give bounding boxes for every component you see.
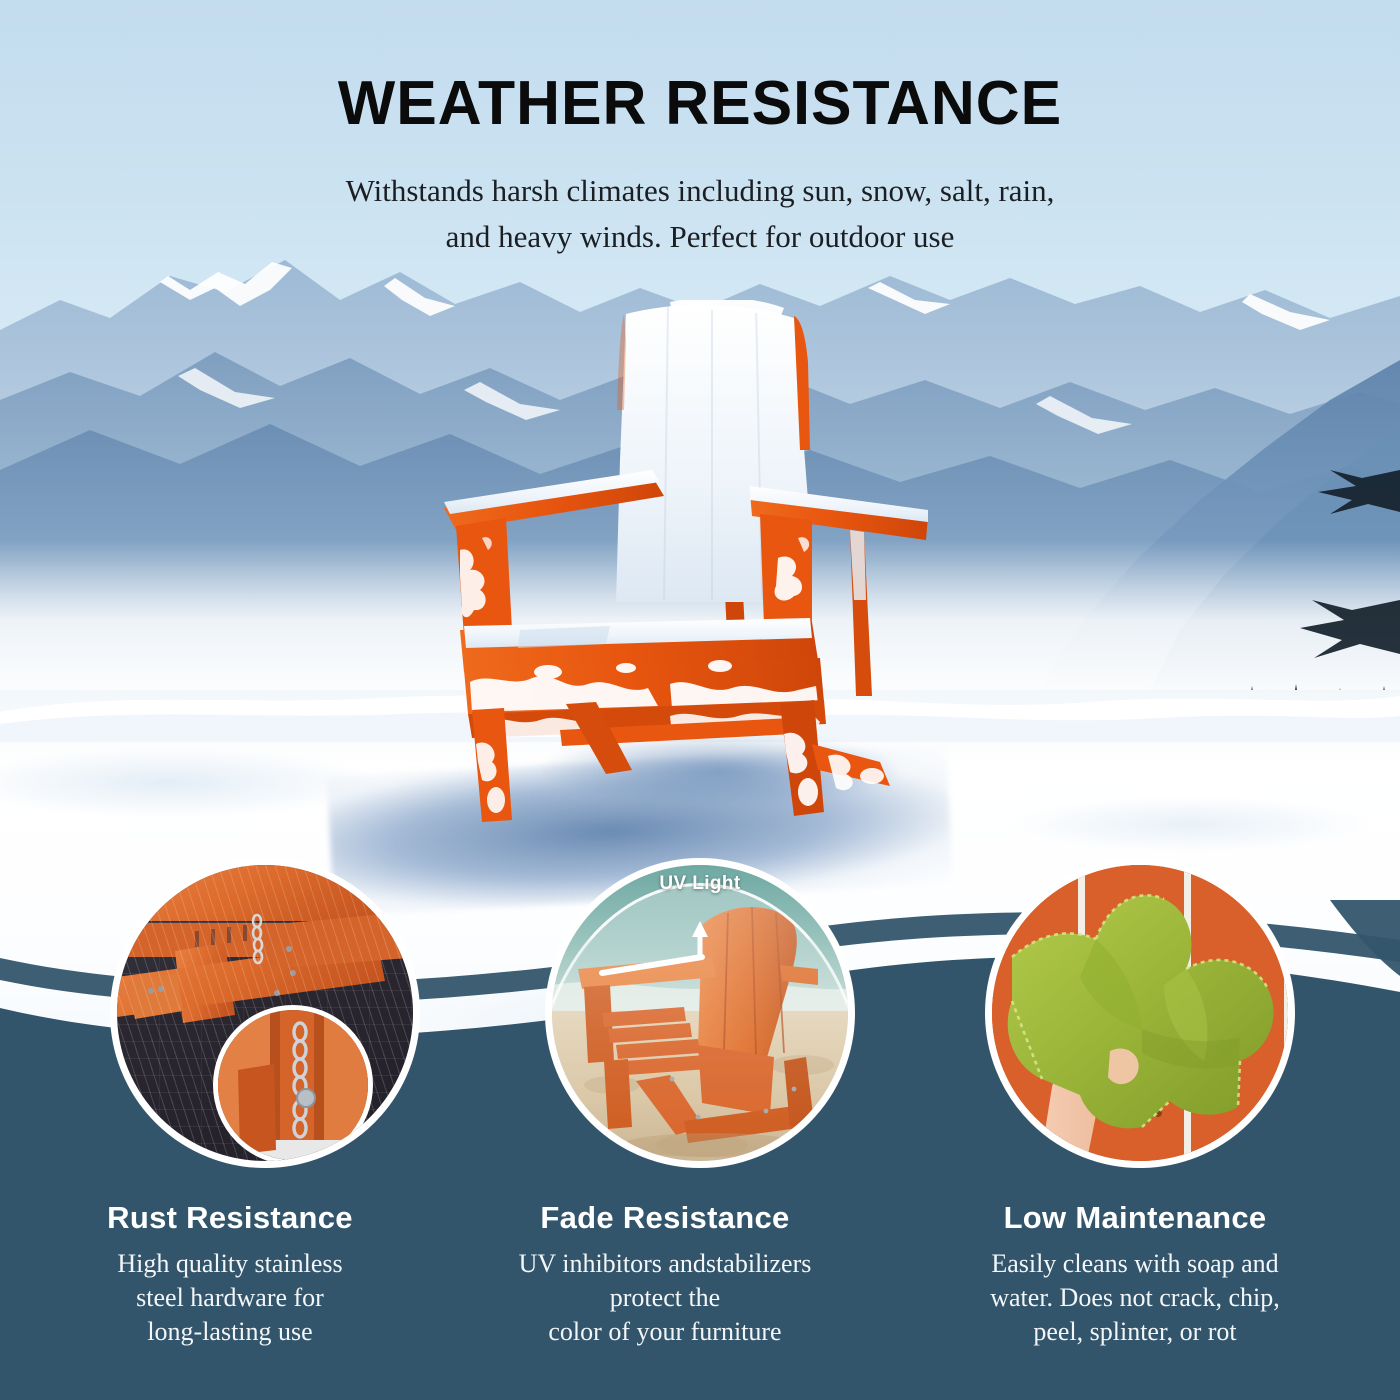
cleaning-scene [992,865,1288,1161]
feature-desc-rust-line-3: long-lasting use [20,1315,440,1349]
feature-desc-clean-line-2: water. Does not crack, chip, [925,1281,1345,1315]
feature-desc-clean: Easily cleans with soap and water. Does … [925,1247,1345,1348]
hero-chair-image [420,300,960,840]
beach-scene: UV Light [552,865,848,1161]
feature-title-rust: Rust Resistance [20,1200,440,1236]
subtitle-line-1: Withstands harsh climates including sun,… [0,168,1400,214]
feature-text-fade-resistance: Fade Resistance UV inhibitors andstabili… [455,1200,875,1348]
feature-image-rust-resistance [110,858,420,1168]
feature-title-fade: Fade Resistance [455,1200,875,1236]
feature-desc-fade: UV inhibitors andstabilizers protect the… [455,1247,875,1348]
feature-image-fade-resistance: UV Light [545,858,855,1168]
page-title: WEATHER RESISTANCE [14,68,1386,139]
feature-desc-rust-line-1: High quality stainless [20,1247,440,1281]
feature-desc-fade-line-2: protect the [455,1281,875,1315]
hardware-chain-inset-image [213,1005,373,1165]
feature-image-low-maintenance [985,858,1295,1168]
feature-text-low-maintenance: Low Maintenance Easily cleans with soap … [925,1200,1345,1348]
feature-desc-rust-line-2: steel hardware for [20,1281,440,1315]
uv-light-label: UV Light [552,873,848,895]
feature-title-clean: Low Maintenance [925,1200,1345,1236]
feature-desc-fade-line-1: UV inhibitors andstabilizers [455,1247,875,1281]
subtitle-line-2: and heavy winds. Perfect for outdoor use [0,214,1400,260]
feature-text-rust-resistance: Rust Resistance High quality stainless s… [20,1200,440,1348]
page-subtitle: Withstands harsh climates including sun,… [0,168,1400,260]
feature-desc-rust: High quality stainless steel hardware fo… [20,1247,440,1348]
feature-desc-fade-line-3: color of your furniture [455,1315,875,1349]
feature-desc-clean-line-3: peel, splinter, or rot [925,1315,1345,1349]
rust-scene [117,865,413,1161]
infographic-canvas: WEATHER RESISTANCE Withstands harsh clim… [0,0,1400,1400]
feature-desc-clean-line-1: Easily cleans with soap and [925,1247,1345,1281]
